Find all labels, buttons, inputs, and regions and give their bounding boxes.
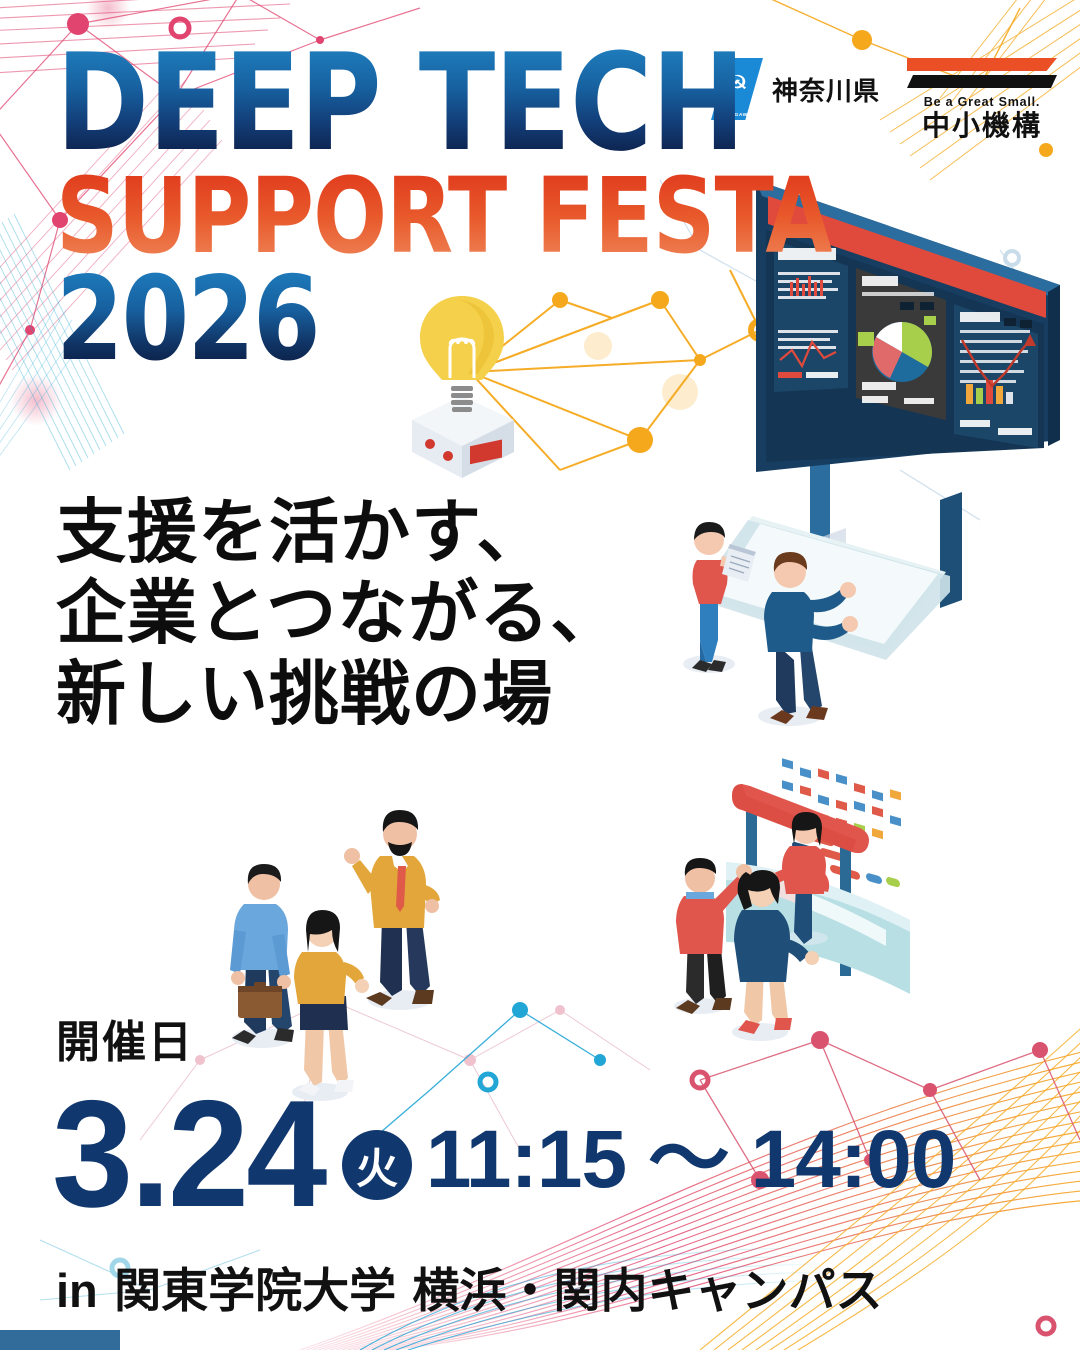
smrj-logo: Be a Great Small. 中小機構: [906, 58, 1058, 140]
poster-title-block: DEEP TECH SUPPORT FESTA 2026: [56, 44, 890, 372]
venue-name: 関東学院大学 横浜・関内キャンパス: [114, 1264, 882, 1319]
event-poster: ☭ KANAGAWA 神奈川県 Be a Great Small. 中小機構 D…: [0, 0, 1080, 1350]
event-date: 3.24: [52, 1086, 324, 1222]
title-year: 2026: [56, 268, 832, 372]
title-deep-tech: DEEP TECH: [56, 44, 832, 162]
day-of-week-badge: 火: [342, 1130, 412, 1200]
event-venue: in 関東学院大学 横浜・関内キャンパス: [56, 1252, 883, 1321]
event-time: 11:15 〜 14:00: [426, 1120, 956, 1200]
date-label: 開催日: [56, 1006, 194, 1070]
tagline-line-1: 支援を活かす、: [56, 492, 621, 573]
smrj-bars-icon: [907, 58, 1057, 92]
poster-tagline: 支援を活かす、 企業とつながる、 新しい挑戦の場: [56, 492, 621, 736]
smrj-tagline: Be a Great Small.: [924, 95, 1040, 109]
venue-prefix: in: [56, 1264, 98, 1317]
event-datetime-row: 3.24 火 11:15 〜 14:00: [52, 1086, 955, 1222]
tagline-line-3: 新しい挑戦の場: [56, 654, 621, 735]
tagline-line-2: 企業とつながる、: [56, 573, 621, 654]
title-support-festa: SUPPORT FESTA: [56, 168, 832, 264]
smrj-label: 中小機構: [922, 111, 1042, 140]
